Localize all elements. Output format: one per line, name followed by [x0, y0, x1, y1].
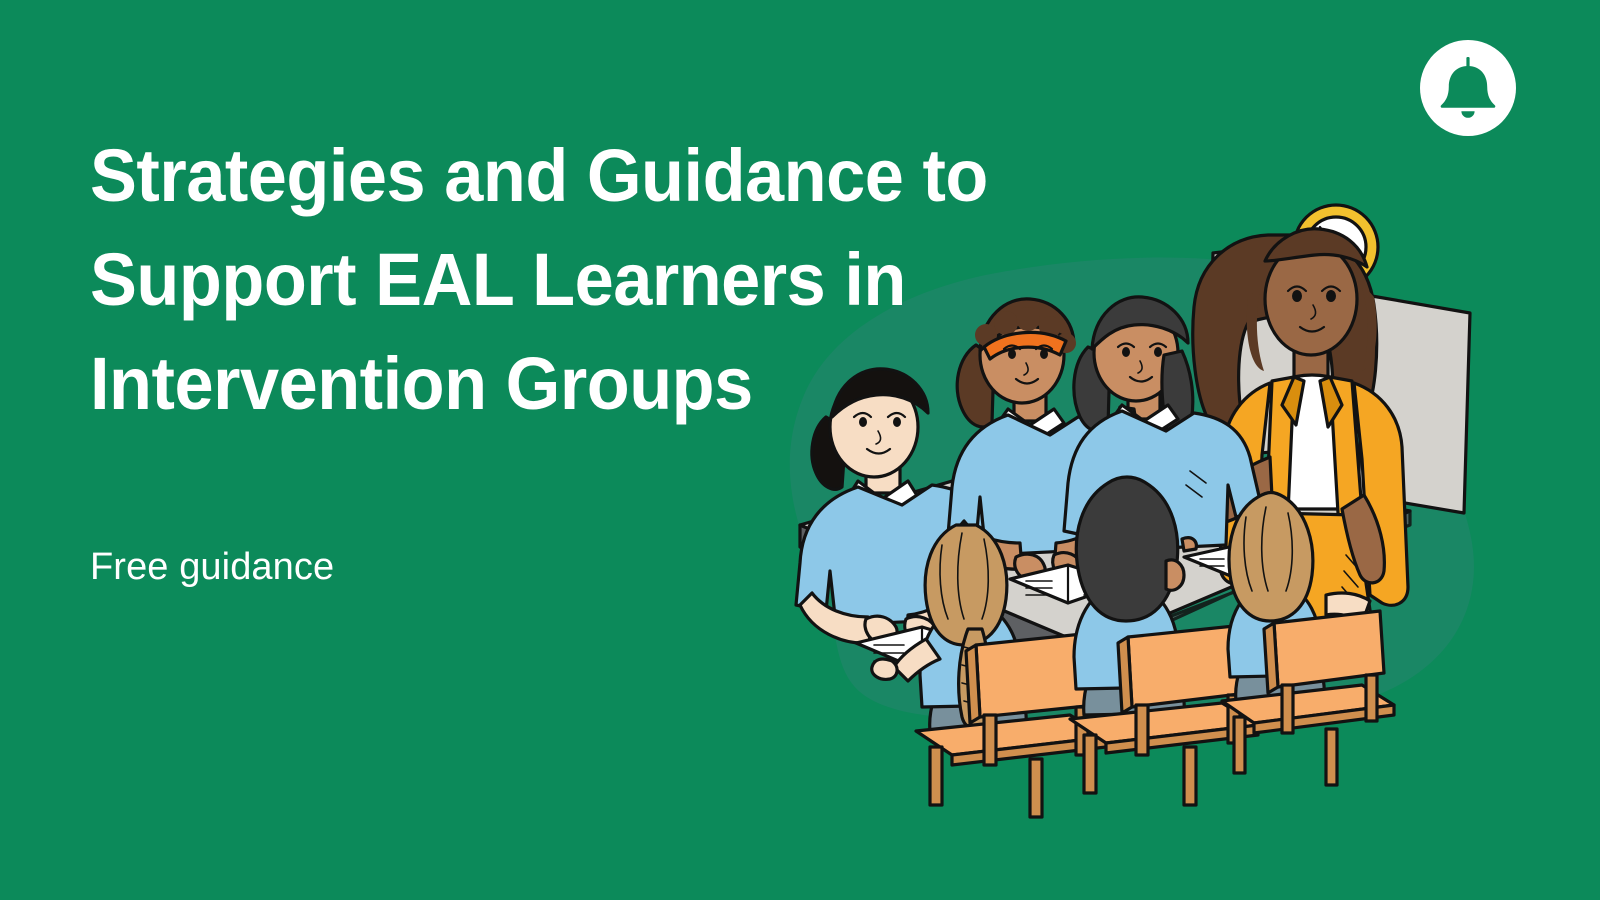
headline-block: Strategies and Guidance to Support EAL L…: [90, 124, 1100, 436]
page-title: Strategies and Guidance to Support EAL L…: [90, 124, 1050, 436]
logo-badge[interactable]: [1420, 40, 1516, 136]
subtitle: Free guidance: [90, 544, 334, 590]
banner-root: Strategies and Guidance to Support EAL L…: [0, 0, 1600, 900]
